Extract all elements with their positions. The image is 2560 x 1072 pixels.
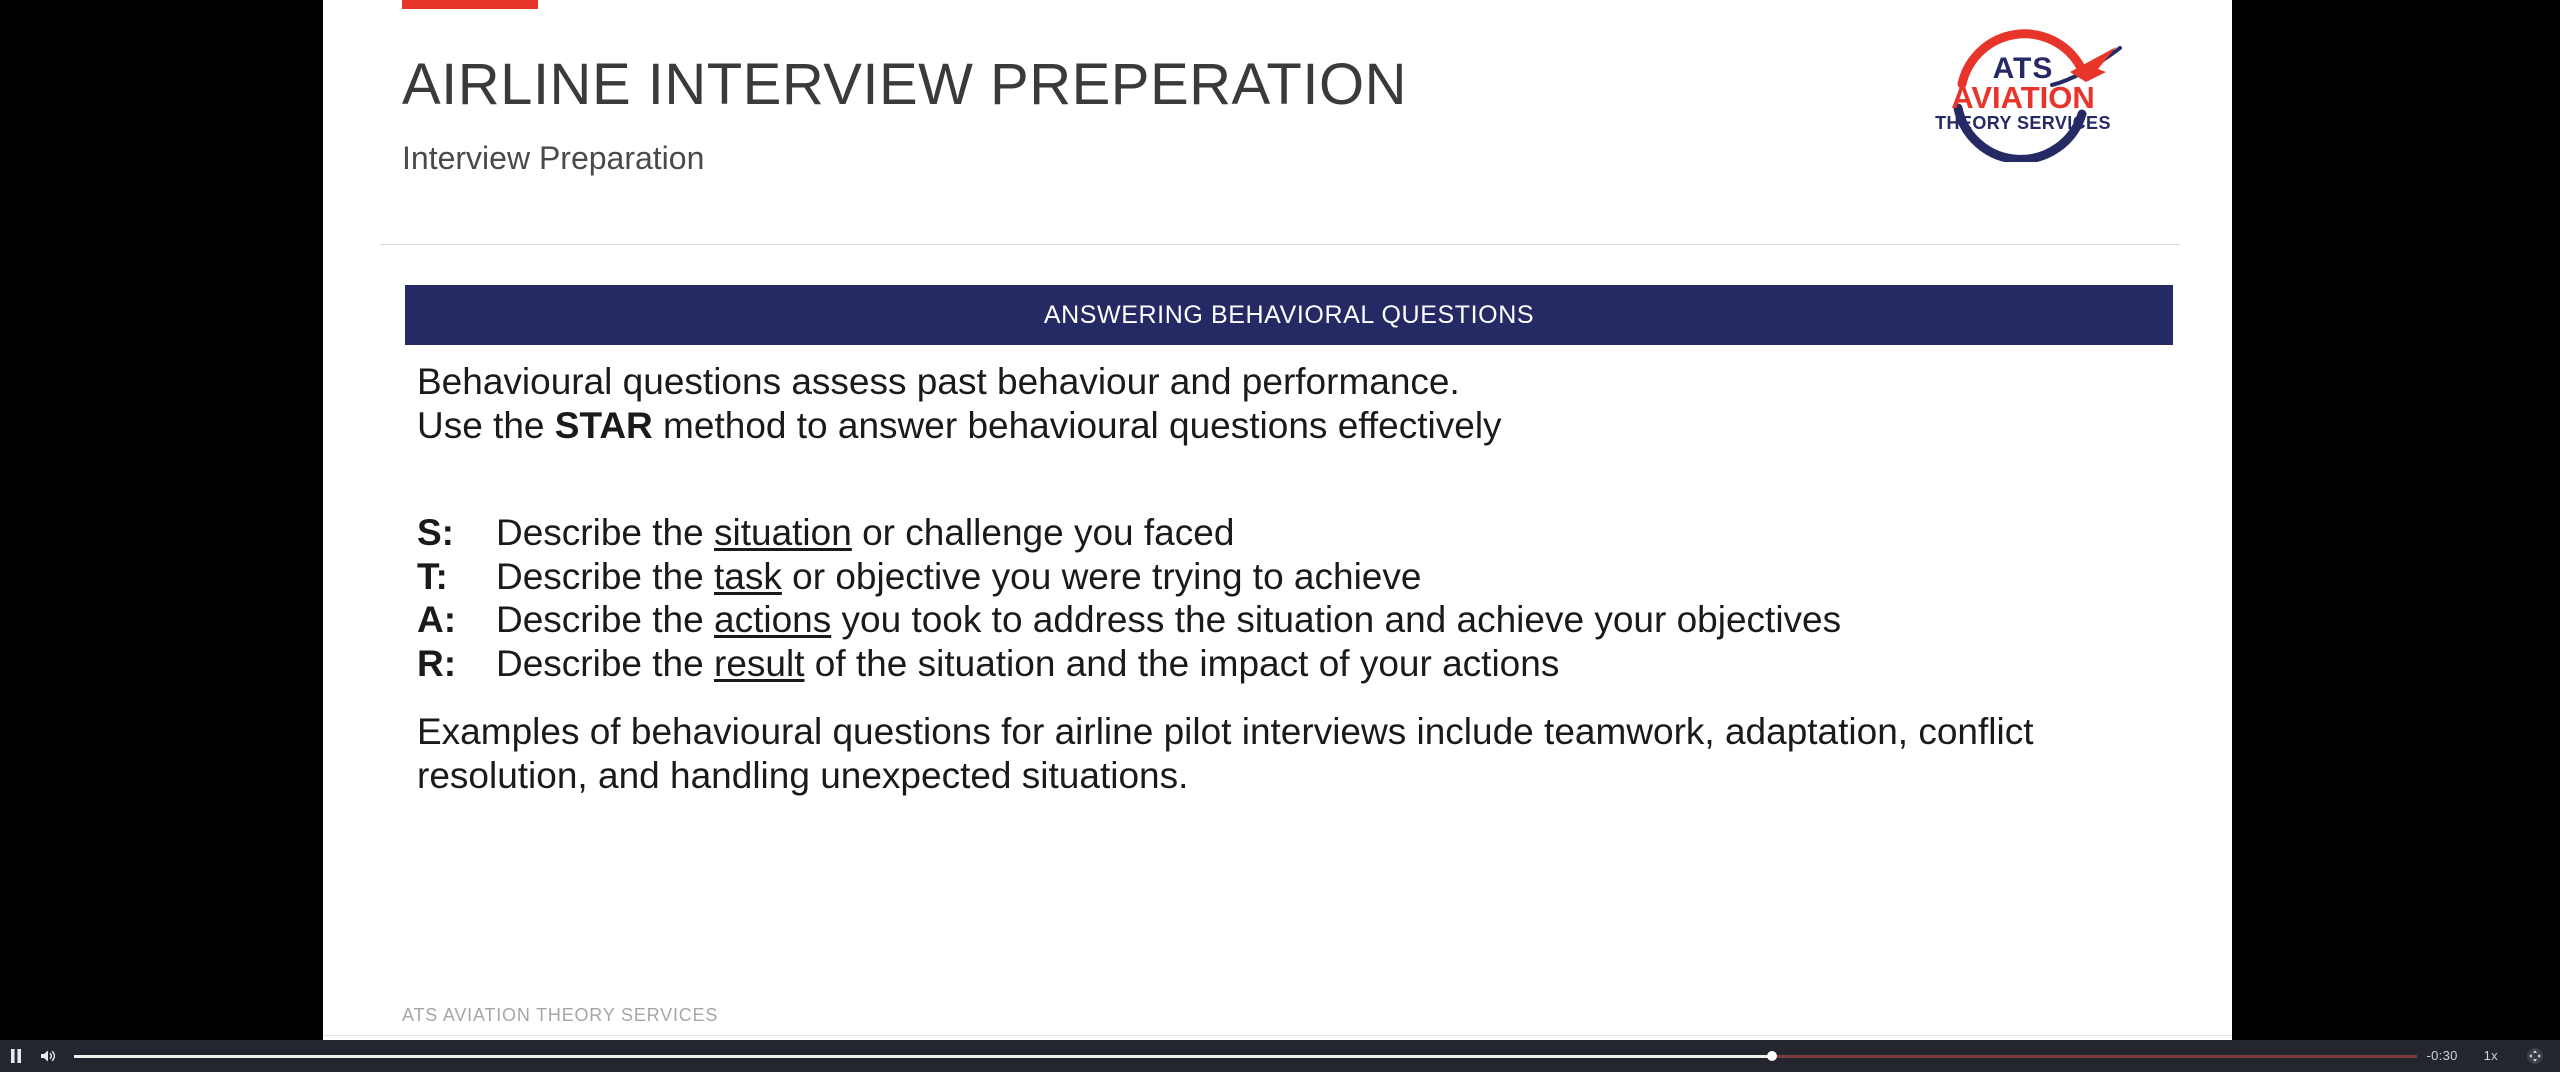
video-player-screen: AIRLINE INTERVIEW PREPERATION Interview …	[0, 0, 2560, 1072]
star-text-r-after: of the situation and the impact of your …	[804, 643, 1559, 684]
star-text-s: Describe the situation or challenge you …	[496, 512, 1234, 553]
star-row: R:Describe the result of the situation a…	[417, 642, 2177, 686]
playback-speed-button[interactable]: 1x	[2484, 1040, 2498, 1072]
star-row: T:Describe the task or objective you wer…	[417, 555, 2177, 599]
page-title: AIRLINE INTERVIEW PREPERATION	[402, 54, 1407, 116]
slide-subtitle: Interview Preparation	[402, 140, 704, 176]
pause-button[interactable]	[3, 1040, 29, 1072]
star-keyword-task: task	[714, 556, 782, 597]
star-text-t-after: or objective you were trying to achieve	[782, 556, 1422, 597]
star-key-r: R:	[417, 642, 496, 686]
section-banner: ANSWERING BEHAVIORAL QUESTIONS	[405, 285, 2173, 345]
star-key-s: S:	[417, 511, 496, 555]
closing-paragraph: Examples of behavioural questions for ai…	[417, 710, 2177, 798]
section-banner-label: ANSWERING BEHAVIORAL QUESTIONS	[1044, 301, 1534, 330]
svg-text:THEORY SERVICES: THEORY SERVICES	[1935, 113, 2111, 133]
intro-line-2-after: method to answer behavioural questions e…	[653, 405, 1502, 446]
volume-icon	[40, 1049, 57, 1063]
slide-header: AIRLINE INTERVIEW PREPERATION Interview …	[323, 0, 2232, 246]
player-control-bar: -0:30 1x	[0, 1040, 2560, 1072]
star-key-a: A:	[417, 598, 496, 642]
fullscreen-button[interactable]	[2524, 1040, 2546, 1072]
ats-aviation-logo: ATS AVIATION THEORY SERVICES	[1920, 22, 2130, 162]
star-keyword-actions: actions	[714, 599, 831, 640]
star-row: S:Describe the situation or challenge yo…	[417, 511, 2177, 555]
star-text-r-before: Describe the	[496, 643, 714, 684]
star-text-t-before: Describe the	[496, 556, 714, 597]
star-text-t: Describe the task or objective you were …	[496, 556, 1421, 597]
pause-icon	[10, 1049, 22, 1063]
star-keyword-result: result	[714, 643, 804, 684]
star-text-r: Describe the result of the situation and…	[496, 643, 1559, 684]
star-keyword-situation: situation	[714, 512, 852, 553]
intro-line-2-before: Use the	[417, 405, 555, 446]
video-stage[interactable]: AIRLINE INTERVIEW PREPERATION Interview …	[0, 0, 2560, 1040]
star-text-a-before: Describe the	[496, 599, 714, 640]
intro-line-2: Use the STAR method to answer behavioura…	[417, 404, 1502, 448]
volume-button[interactable]	[35, 1040, 61, 1072]
presentation-slide: AIRLINE INTERVIEW PREPERATION Interview …	[323, 0, 2232, 1040]
footer-divider	[323, 1035, 2232, 1036]
time-remaining-label: -0:30	[2427, 1040, 2458, 1072]
progress-handle[interactable]	[1767, 1051, 1777, 1061]
progress-fill	[74, 1055, 1772, 1058]
star-text-a-after: you took to address the situation and ac…	[831, 599, 1841, 640]
star-text-s-after: or challenge you faced	[852, 512, 1235, 553]
slide-footer: ATS AVIATION THEORY SERVICES	[402, 1005, 718, 1026]
progress-scrubber[interactable]	[74, 1040, 2417, 1072]
header-divider	[380, 244, 2180, 245]
intro-line-1: Behavioural questions assess past behavi…	[417, 360, 1460, 404]
star-acronym: STAR	[555, 405, 653, 446]
star-text-a: Describe the actions you took to address…	[496, 599, 1841, 640]
fullscreen-icon	[2527, 1048, 2543, 1064]
svg-text:AVIATION: AVIATION	[1951, 80, 2095, 115]
star-text-s-before: Describe the	[496, 512, 714, 553]
star-row: A:Describe the actions you took to addre…	[417, 598, 2177, 642]
star-key-t: T:	[417, 555, 496, 599]
